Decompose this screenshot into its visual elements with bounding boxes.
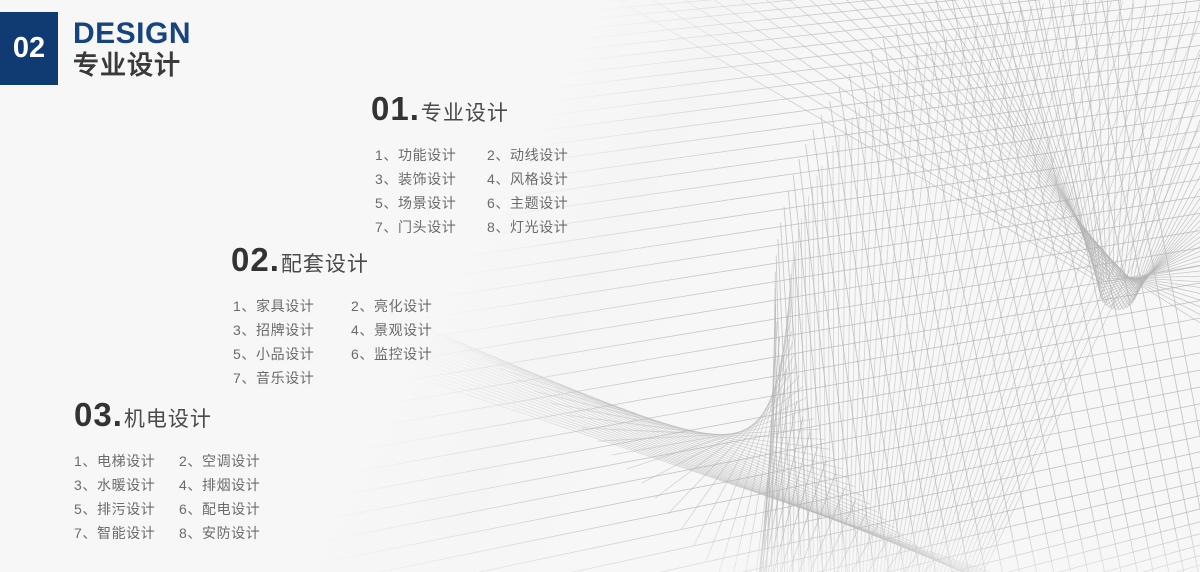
list-item: 2、动线设计	[487, 143, 568, 167]
list-item: 3、装饰设计	[375, 167, 487, 191]
list-item: 2、亮化设计	[351, 294, 469, 318]
list-item: 4、景观设计	[351, 318, 469, 342]
list-item: 1、家具设计	[233, 294, 351, 318]
block-number-dot: .	[410, 92, 419, 125]
page-title-cn: 专业设计	[73, 51, 191, 81]
content-block-01-heading: 01 . 专业设计	[371, 92, 568, 125]
block-number-dot: .	[113, 398, 122, 431]
content-block-03-heading: 03 . 机电设计	[74, 398, 284, 431]
list-row: 5、场景设计 6、主题设计	[375, 191, 568, 215]
list-item: 7、音乐设计	[233, 366, 351, 390]
block-number: 03	[74, 398, 113, 431]
header-title-group: DESIGN 专业设计	[73, 12, 191, 85]
block-subtitle: 专业设计	[421, 103, 509, 124]
content-block-01: 01 . 专业设计 1、功能设计 2、动线设计 3、装饰设计 4、风格设计 5、…	[371, 92, 568, 239]
list-item: 1、电梯设计	[74, 449, 179, 473]
block-subtitle: 机电设计	[124, 409, 212, 430]
slide-header: 02 DESIGN 专业设计	[0, 12, 191, 85]
list-item: 5、小品设计	[233, 342, 351, 366]
block-subtitle: 配套设计	[281, 254, 369, 275]
content-block-02: 02 . 配套设计 1、家具设计 2、亮化设计 3、招牌设计 4、景观设计 5、…	[231, 243, 469, 390]
list-item: 7、门头设计	[375, 215, 487, 239]
list-item: 5、场景设计	[375, 191, 487, 215]
list-item: 7、智能设计	[74, 521, 179, 545]
list-item: 6、主题设计	[487, 191, 568, 215]
list-item: 6、配电设计	[179, 497, 284, 521]
content-block-02-heading: 02 . 配套设计	[231, 243, 469, 276]
block-number-dot: .	[270, 243, 279, 276]
content-block-02-list: 1、家具设计 2、亮化设计 3、招牌设计 4、景观设计 5、小品设计 6、监控设…	[233, 294, 469, 390]
list-row: 7、智能设计 8、安防设计	[74, 521, 284, 545]
list-item: 3、招牌设计	[233, 318, 351, 342]
list-row: 1、功能设计 2、动线设计	[375, 143, 568, 167]
slide-canvas: 02 DESIGN 专业设计 01 . 专业设计 1、功能设计 2、动线设计 3…	[0, 0, 1200, 572]
list-item: 3、水暖设计	[74, 473, 179, 497]
list-item	[351, 366, 469, 390]
page-title-en: DESIGN	[73, 18, 191, 50]
list-row: 7、音乐设计	[233, 366, 469, 390]
list-item: 4、风格设计	[487, 167, 568, 191]
content-block-03: 03 . 机电设计 1、电梯设计 2、空调设计 3、水暖设计 4、排烟设计 5、…	[74, 398, 284, 545]
list-item: 4、排烟设计	[179, 473, 284, 497]
list-item: 8、安防设计	[179, 521, 284, 545]
content-block-03-list: 1、电梯设计 2、空调设计 3、水暖设计 4、排烟设计 5、排污设计 6、配电设…	[74, 449, 284, 545]
list-item: 5、排污设计	[74, 497, 179, 521]
list-row: 1、电梯设计 2、空调设计	[74, 449, 284, 473]
block-number: 01	[371, 92, 410, 125]
list-row: 1、家具设计 2、亮化设计	[233, 294, 469, 318]
list-item: 6、监控设计	[351, 342, 469, 366]
list-item: 8、灯光设计	[487, 215, 568, 239]
list-row: 3、装饰设计 4、风格设计	[375, 167, 568, 191]
list-row: 7、门头设计 8、灯光设计	[375, 215, 568, 239]
list-row: 5、小品设计 6、监控设计	[233, 342, 469, 366]
list-row: 3、招牌设计 4、景观设计	[233, 318, 469, 342]
section-number-badge: 02	[0, 12, 58, 85]
content-block-01-list: 1、功能设计 2、动线设计 3、装饰设计 4、风格设计 5、场景设计 6、主题设…	[375, 143, 568, 239]
list-item: 2、空调设计	[179, 449, 284, 473]
block-number: 02	[231, 243, 270, 276]
list-row: 3、水暖设计 4、排烟设计	[74, 473, 284, 497]
list-row: 5、排污设计 6、配电设计	[74, 497, 284, 521]
list-item: 1、功能设计	[375, 143, 487, 167]
